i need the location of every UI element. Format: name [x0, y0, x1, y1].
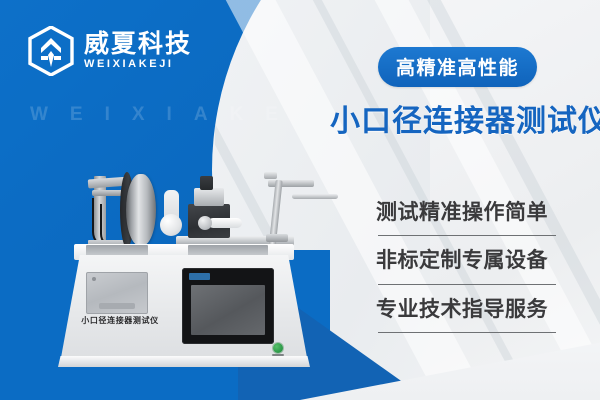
feature-label: 非标定制专属设备: [376, 248, 558, 274]
machine-touchscreen[interactable]: [182, 268, 274, 344]
green-cert-badge-icon: [270, 343, 286, 357]
hexagon-shield-icon: [28, 26, 74, 76]
page-title: 小口径连接器测试仪: [330, 96, 600, 140]
divider: [378, 332, 556, 333]
feature-label: 专业技术指导服务: [376, 297, 558, 323]
machine-deck-slot-right: [188, 245, 268, 256]
feature-label: 测试精准操作简单: [376, 200, 558, 226]
fixture-wheel: [126, 174, 156, 246]
promo-banner: 威夏科技 WEIXIAKEJI WEIXIAKE 高精准高性能 小口径连接器测试…: [0, 0, 600, 400]
divider: [378, 284, 556, 285]
brand-name-cn: 威夏科技: [84, 31, 192, 57]
fixture-knob: [200, 176, 213, 190]
cert-badge-circle: [273, 343, 283, 353]
panel-screw-icon: [92, 277, 96, 281]
brand-logo-text: 威夏科技 WEIXIAKEJI: [84, 31, 192, 72]
machine-access-panel[interactable]: [86, 272, 148, 314]
touchscreen-display[interactable]: [191, 285, 265, 335]
bracket-rod: [292, 194, 338, 199]
cert-badge-bar: [272, 354, 284, 356]
list-item: 非标定制专属设备: [376, 248, 558, 284]
headline-badge: 高精准高性能: [378, 47, 537, 87]
bracket-tip: [264, 172, 277, 179]
list-item: 测试精准操作简单: [376, 200, 558, 236]
brand-name-en: WEIXIAKEJI: [84, 57, 192, 71]
feature-list: 测试精准操作简单 非标定制专属设备 专业技术指导服务: [376, 200, 558, 345]
fixture-gauge: [198, 216, 212, 230]
machine-base-edge: [58, 356, 310, 367]
divider: [378, 235, 556, 236]
fixture-disc: [160, 214, 182, 236]
machine-deck-slot-left: [86, 245, 148, 256]
brand-logo: 威夏科技 WEIXIAKEJI: [28, 26, 192, 76]
list-item: 专业技术指导服务: [376, 297, 558, 333]
fixture-clamp-top: [194, 188, 224, 206]
machine-front-label: 小口径连接器测试仪: [74, 315, 166, 326]
product-image: 小口径连接器测试仪: [48, 160, 348, 385]
fixture-tube: [208, 218, 242, 228]
bracket-base: [266, 234, 288, 242]
fixture-bracket: [258, 172, 312, 250]
hmi-brand-logo: [189, 273, 210, 280]
